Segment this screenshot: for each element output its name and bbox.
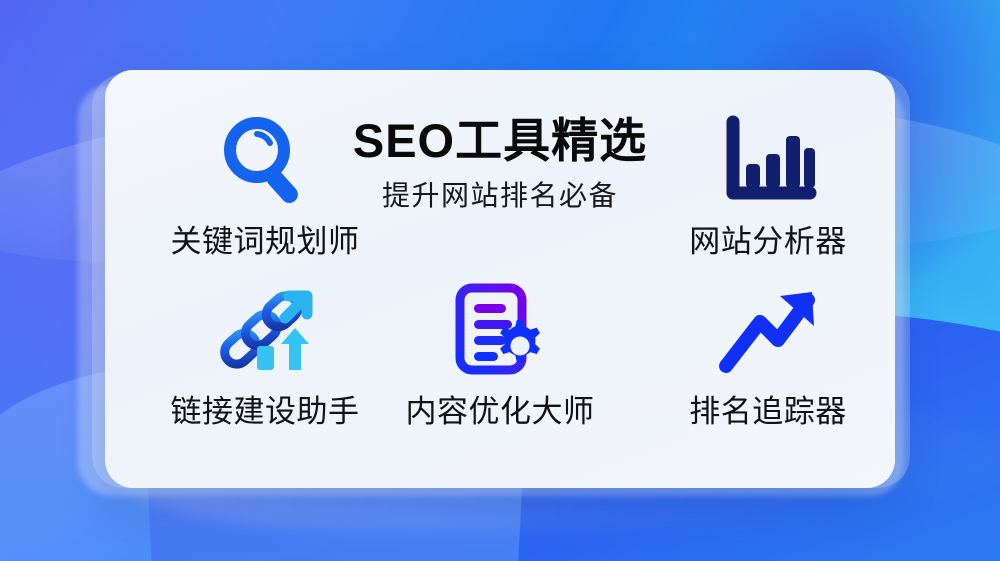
tile-label-link-builder: 链接建设助手 bbox=[150, 386, 380, 431]
document-gear-icon bbox=[385, 278, 615, 382]
tile-site-analyzer[interactable]: 网站分析器 bbox=[653, 108, 883, 261]
tile-label-content-optimizer: 内容优化大师 bbox=[385, 386, 615, 431]
tile-link-builder[interactable]: 链接建设助手 bbox=[150, 278, 380, 431]
infographic-poster: SEO工具精选 提升网站排名必备 关键词规划师 bbox=[0, 0, 1000, 561]
bar-chart-icon bbox=[653, 108, 883, 212]
tile-keyword-planner[interactable]: 关键词规划师 bbox=[150, 108, 380, 261]
tile-rank-tracker[interactable]: 排名追踪器 bbox=[653, 278, 883, 431]
tile-label-site-analyzer: 网站分析器 bbox=[653, 216, 883, 261]
tile-content-optimizer[interactable]: 内容优化大师 bbox=[385, 278, 615, 431]
magnifier-icon bbox=[150, 108, 380, 212]
tile-label-rank-tracker: 排名追踪器 bbox=[653, 386, 883, 431]
chain-link-arrow-icon bbox=[150, 278, 380, 382]
tile-label-keyword-planner: 关键词规划师 bbox=[150, 216, 380, 261]
content-card: SEO工具精选 提升网站排名必备 关键词规划师 bbox=[105, 70, 895, 488]
trending-up-icon bbox=[653, 278, 883, 382]
